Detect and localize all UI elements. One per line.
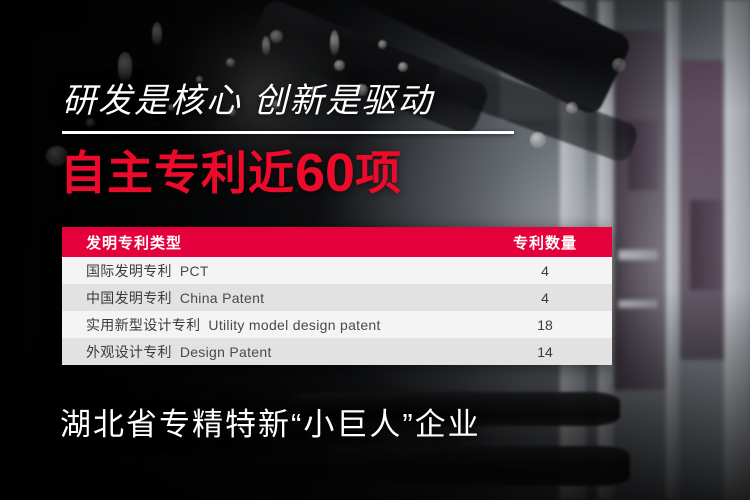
patent-type-en: PCT	[180, 263, 209, 279]
cell-patent-count: 14	[490, 344, 612, 360]
patent-type-cn: 中国发明专利	[86, 290, 172, 306]
patent-infographic-poster: 研发是核心 创新是驱动 自主专利近60项 发明专利类型 专利数量 国际发明专利P…	[0, 0, 750, 500]
patent-type-cn: 实用新型设计专利	[86, 317, 200, 333]
title-suffix: 项	[355, 147, 402, 199]
cell-patent-count: 18	[490, 317, 612, 333]
table-row: 实用新型设计专利Utility model design patent 18	[62, 311, 612, 338]
patent-type-cn: 国际发明专利	[86, 263, 172, 279]
patent-type-en: Utility model design patent	[208, 317, 380, 333]
cell-patent-count: 4	[490, 263, 612, 279]
title-prefix: 自主专利近	[60, 147, 295, 199]
patent-type-cn: 外观设计专利	[86, 344, 172, 360]
title-number: 60	[295, 143, 355, 203]
patent-type-en: China Patent	[180, 290, 265, 306]
table-header-row: 发明专利类型 专利数量	[62, 227, 612, 257]
poster-title: 自主专利近60项	[60, 144, 402, 202]
poster-headline: 研发是核心 创新是驱动	[62, 79, 433, 123]
cell-patent-type: 中国发明专利China Patent	[62, 288, 490, 308]
table-row: 外观设计专利Design Patent 14	[62, 338, 612, 365]
table-row: 中国发明专利China Patent 4	[62, 284, 612, 311]
headline-divider	[62, 131, 514, 134]
patent-table: 发明专利类型 专利数量 国际发明专利PCT 4 中国发明专利China Pate…	[62, 227, 612, 365]
column-header-count: 专利数量	[490, 232, 612, 253]
cell-patent-type: 实用新型设计专利Utility model design patent	[62, 315, 490, 335]
cell-patent-type: 外观设计专利Design Patent	[62, 342, 490, 362]
column-header-type: 发明专利类型	[62, 232, 490, 253]
cell-patent-type: 国际发明专利PCT	[62, 261, 490, 281]
poster-content: 研发是核心 创新是驱动 自主专利近60项 发明专利类型 专利数量 国际发明专利P…	[0, 0, 750, 500]
patent-type-en: Design Patent	[180, 344, 272, 360]
poster-footer-text: 湖北省专精特新“小巨人”企业	[60, 404, 481, 446]
table-row: 国际发明专利PCT 4	[62, 257, 612, 284]
cell-patent-count: 4	[490, 290, 612, 306]
